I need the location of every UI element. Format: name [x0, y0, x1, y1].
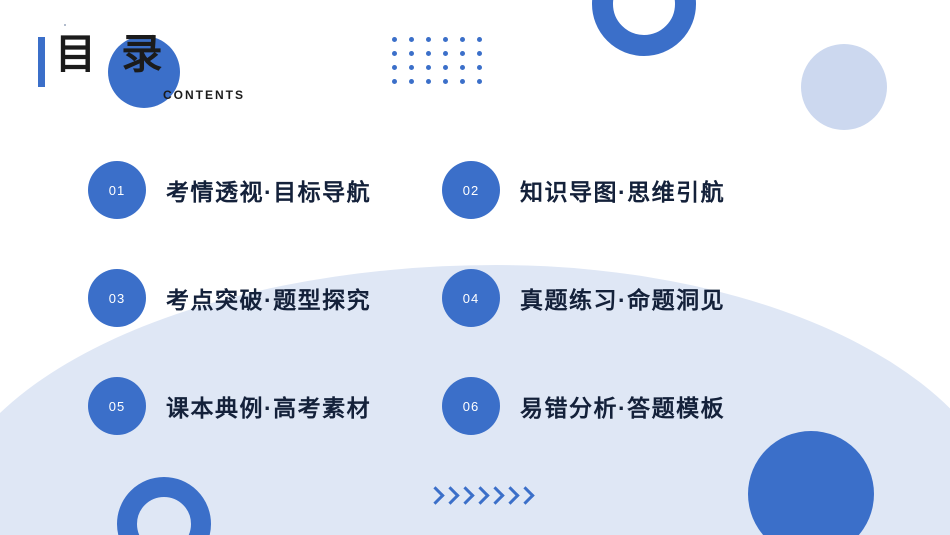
item-label: 真题练习·命题洞见: [520, 281, 725, 315]
list-item-03[interactable]: 03 考点突破·题型探究: [0, 244, 422, 352]
decor-ring-top: [592, 0, 696, 56]
list-item-06[interactable]: 06 易错分析·答题模板: [422, 352, 942, 460]
title-english: CONTENTS: [163, 88, 245, 102]
item-number-badge: 06: [442, 377, 500, 435]
item-number-badge: 04: [442, 269, 500, 327]
item-number-badge: 05: [88, 377, 146, 435]
title-chinese: 目 录: [55, 34, 169, 75]
contents-row: 05 课本典例·高考素材 06 易错分析·答题模板: [0, 352, 950, 460]
list-item-02[interactable]: 02 知识导图·思维引航: [422, 136, 942, 244]
decor-circle-light: [801, 44, 887, 130]
item-label: 考点突破·题型探究: [166, 281, 371, 315]
page-title: 目 录: [38, 34, 169, 87]
item-label: 课本典例·高考素材: [166, 389, 371, 423]
list-item-05[interactable]: 05 课本典例·高考素材: [0, 352, 422, 460]
decor-dot-grid: [392, 37, 494, 93]
item-number-badge: 01: [88, 161, 146, 219]
title-accent-bar: [38, 37, 45, 87]
chevron-right-icon-group: [429, 489, 534, 502]
contents-row: 01 考情透视·目标导航 02 知识导图·思维引航: [0, 136, 950, 244]
contents-row: 03 考点突破·题型探究 04 真题练习·命题洞见: [0, 244, 950, 352]
slide-canvas: 目 录 CONTENTS 01 考情透视·目标导航 02 知识导图·思维引航 0…: [0, 0, 950, 535]
list-item-04[interactable]: 04 真题练习·命题洞见: [422, 244, 942, 352]
contents-list: 01 考情透视·目标导航 02 知识导图·思维引航 03 考点突破·题型探究 0…: [0, 136, 950, 460]
item-number-badge: 03: [88, 269, 146, 327]
item-label: 知识导图·思维引航: [520, 173, 725, 207]
item-label: 易错分析·答题模板: [520, 389, 725, 423]
item-number-badge: 02: [442, 161, 500, 219]
item-label: 考情透视·目标导航: [166, 173, 371, 207]
decor-dot-small: [64, 24, 66, 26]
list-item-01[interactable]: 01 考情透视·目标导航: [0, 136, 422, 244]
